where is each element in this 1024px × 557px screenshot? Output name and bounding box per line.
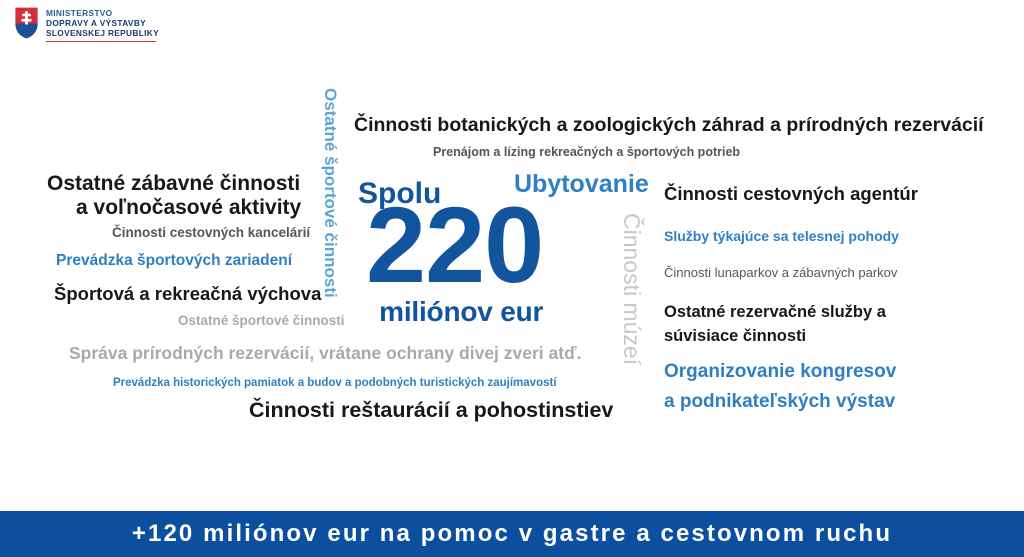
cloud-word-cinnosti-botanickych-zahrad: Činnosti botanických a zoologických záhr… (354, 114, 984, 137)
cloud-word-cinnosti-restauracii: Činnosti reštaurácií a pohostinstiev (249, 398, 613, 423)
cloud-word-podnikatelskych-vystav: a podnikateľských výstav (664, 391, 895, 413)
cloud-word-sluzby-telesnej-pohody: Služby týkajúce sa telesnej pohody (664, 228, 899, 244)
cloud-word-cinnosti-lunaparkov: Činnosti lunaparkov a zábavných parkov (664, 265, 897, 280)
cloud-word-ostatne-sportove-cinnosti-vertical: Ostatné športové činnosti (320, 88, 340, 298)
cloud-word-cinnosti-cestovnych-agentur: Činnosti cestovných agentúr (664, 183, 918, 204)
cloud-word-volnocasove-aktivity: a voľnočasové aktivity (76, 196, 301, 220)
cloud-word-sprava-prirodnych-rezervacii: Správa prírodných rezervácií, vrátane oc… (69, 343, 582, 363)
total-amount: 220 miliónov eur (366, 199, 543, 328)
cloud-word-prenajom-lizing: Prenájom a lízing rekreačných a športový… (433, 145, 740, 160)
total-amount-value: 220 (366, 199, 543, 292)
bottom-banner: +120 miliónov eur na pomoc v gastre a ce… (0, 511, 1024, 557)
cloud-word-cinnosti-muzei-vertical: Činnosti múzeí (618, 213, 645, 365)
cloud-word-organizovanie-kongresov: Organizovanie kongresov (664, 361, 896, 383)
cloud-word-prevadzka-historickych-pamiatok: Prevádzka historických pamiatok a budov … (113, 377, 557, 390)
cloud-word-ostatne-rezervacne-sluzby: Ostatné rezervačné služby a (664, 303, 886, 322)
cloud-word-ostatne-sportove-cinnosti: Ostatné športové činnosti (178, 313, 345, 329)
cloud-word-suvisiace-cinnosti: súvisiace činnosti (664, 327, 806, 346)
cloud-word-ostatne-zabavne-cinnosti: Ostatné zábavné činnosti (47, 172, 300, 196)
cloud-word-prevadzka-sportovych-zariadeni: Prevádzka športových zariadení (56, 252, 292, 270)
banner-text: +120 miliónov eur na pomoc v gastre a ce… (132, 520, 892, 548)
total-amount-unit: miliónov eur (366, 296, 543, 328)
cloud-word-sportova-rekreacna-vychova: Športová a rekreačná výchova (54, 283, 321, 304)
infographic-page: MINISTERSTVO DOPRAVY A VÝSTAVBY SLOVENSK… (0, 0, 1024, 557)
cloud-word-cinnosti-cestovnych-kancelarii: Činnosti cestovných kancelárií (112, 225, 310, 241)
